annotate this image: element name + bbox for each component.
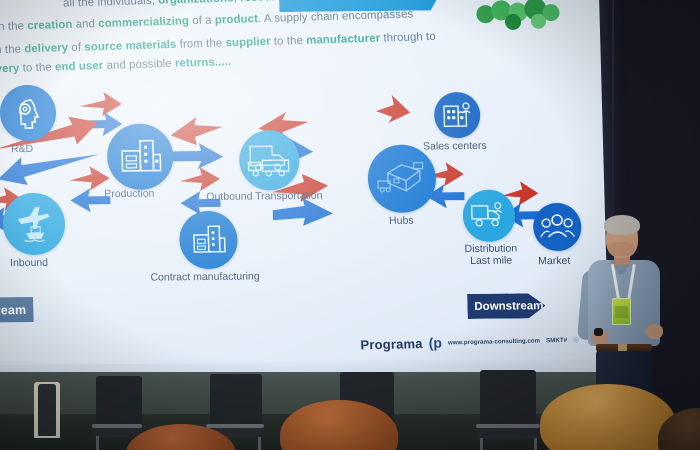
node-label-rnd: R&D [11, 143, 33, 155]
people-icon [540, 213, 575, 241]
presenter-clicker [594, 328, 603, 336]
warehouse-hub-icon [375, 156, 428, 201]
delivery-truck-icon [470, 201, 509, 231]
node-label-production: Production [104, 188, 155, 201]
node-hubs[interactable] [367, 144, 437, 213]
node-label-market: Market [538, 255, 570, 267]
node-label-inbound: Inbound [10, 257, 48, 269]
node-label-distribution-last-mile: Distribution Last mile [456, 243, 527, 267]
node-distribution-last-mile[interactable] [462, 190, 515, 243]
presenter-belt-buckle [618, 344, 627, 351]
footer-brand: Programa (p www.programa-consulting.com … [360, 332, 579, 353]
brand-name: Programa [360, 336, 423, 352]
upstream-badge: Upstream [0, 297, 34, 323]
green-icon-6 [505, 14, 522, 31]
node-label-hubs: Hubs [389, 215, 414, 227]
distribution-label-line2: Last mile [456, 255, 526, 268]
slide-content: all the individuals, organizations, reso… [0, 0, 609, 375]
brand-extra-mark: ◎ [573, 336, 579, 344]
factory-icon [118, 137, 163, 177]
header-line-0: all the individuals, organizations, reso… [63, 0, 375, 10]
office-person-icon [441, 100, 474, 130]
presenter-hair [604, 215, 640, 235]
node-market[interactable] [533, 203, 582, 252]
node-outbound-transportation[interactable] [239, 130, 301, 191]
brand-url: www.programa-consulting.com [448, 337, 540, 346]
presenter-badge [612, 298, 631, 325]
header-line-3: ual delivery to the end user and possibl… [0, 56, 232, 76]
brand-tag: SMKT# [546, 336, 567, 343]
presenter-beard [608, 242, 635, 256]
header-line-1: ved in the creation and commercializing … [0, 8, 414, 33]
presenter-right-hand [646, 324, 663, 339]
node-inbound[interactable] [2, 193, 66, 256]
node-production[interactable] [106, 123, 174, 190]
chair [28, 382, 88, 450]
plane-ship-icon [11, 203, 56, 245]
node-contract-manufacturing[interactable] [179, 211, 239, 270]
node-label-outbound-transportation: Outbound Transportation [206, 190, 323, 203]
header-line-2: ng from the delivery of source materials… [0, 31, 436, 57]
green-icon-7 [531, 13, 547, 29]
node-sales-centers[interactable] [434, 92, 481, 139]
node-label-contract-manufacturing: Contract manufacturing [150, 270, 259, 283]
node-label-sales-centers: Sales centers [423, 140, 487, 153]
conference-photo: all the individuals, organizations, reso… [0, 0, 700, 450]
sustainability-icon-cluster [473, 0, 573, 36]
brand-logo-icon: (p [428, 335, 442, 351]
trucks-icon [246, 140, 293, 181]
head-gear-icon [11, 96, 46, 130]
factory-icon [189, 223, 228, 257]
